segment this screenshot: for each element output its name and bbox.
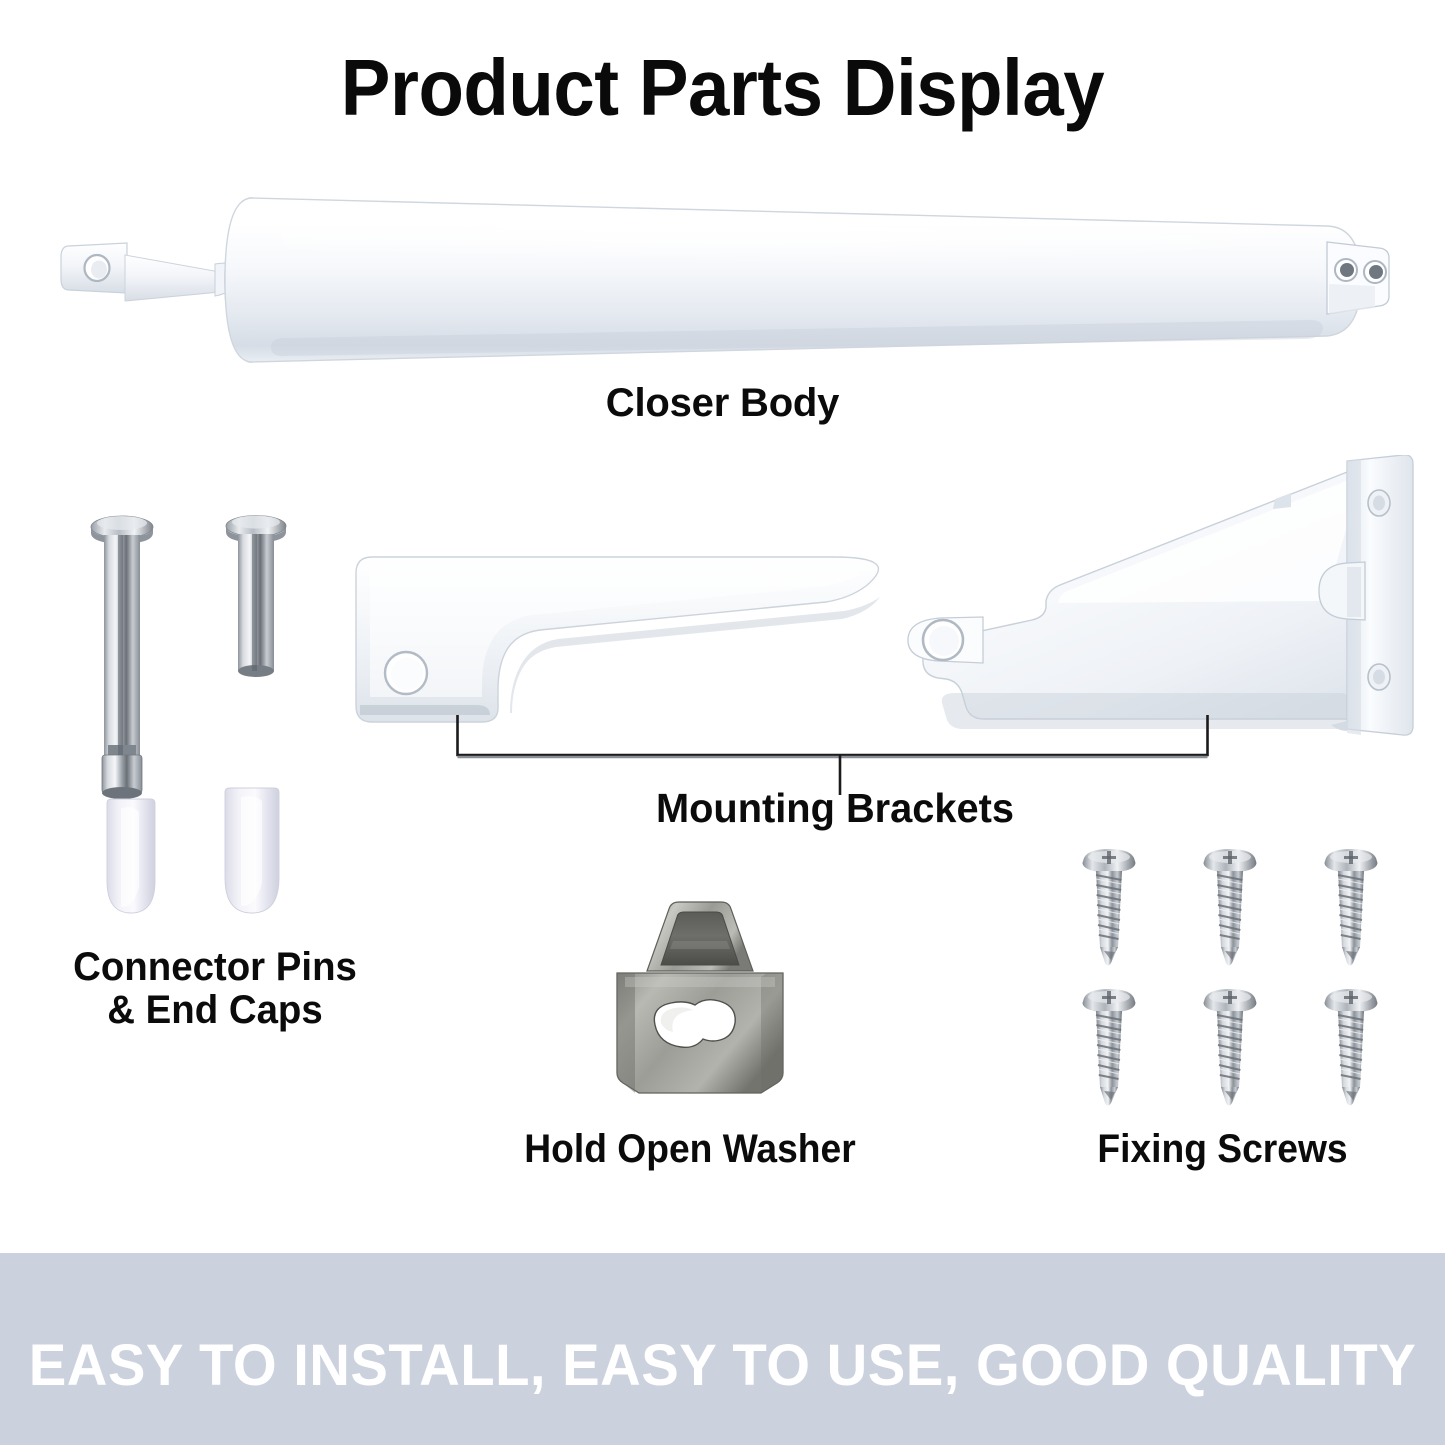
screw-1: [1083, 849, 1135, 966]
hold-open-washer-label: Hold Open Washer: [439, 1128, 941, 1171]
screw-4: [1083, 989, 1135, 1106]
page-title: Product Parts Display: [51, 48, 1395, 128]
connector-pin-short: [226, 516, 286, 678]
mounting-brackets-brace: [440, 705, 1230, 795]
closer-body-icon: [55, 180, 1405, 395]
product-parts-display-page: Product Parts Display: [0, 0, 1445, 1445]
connector-pins-label-line1: Connector Pins: [9, 946, 422, 989]
screw-2: [1204, 849, 1256, 966]
fixing-screws-icon: [1065, 835, 1395, 1135]
screw-6: [1325, 989, 1377, 1106]
connector-pins-and-end-caps-icon: [75, 490, 345, 940]
closer-body-label: Closer Body: [0, 382, 1445, 425]
hold-open-washer-icon: [585, 885, 815, 1115]
bottom-banner-text: EASY TO INSTALL, EASY TO USE, GOOD QUALI…: [22, 1332, 1424, 1399]
screw-5: [1204, 989, 1256, 1106]
end-cap-left: [107, 799, 155, 913]
connector-pins-label: Connector Pins & End Caps: [9, 946, 422, 1032]
mounting-brackets-label: Mounting Brackets: [452, 786, 1218, 830]
connector-pin-long: [91, 516, 153, 799]
connector-pins-label-line2: & End Caps: [9, 989, 422, 1032]
fixing-screws-label: Fixing Screws: [1016, 1128, 1430, 1171]
end-cap-right: [225, 788, 279, 913]
screw-3: [1325, 849, 1377, 966]
